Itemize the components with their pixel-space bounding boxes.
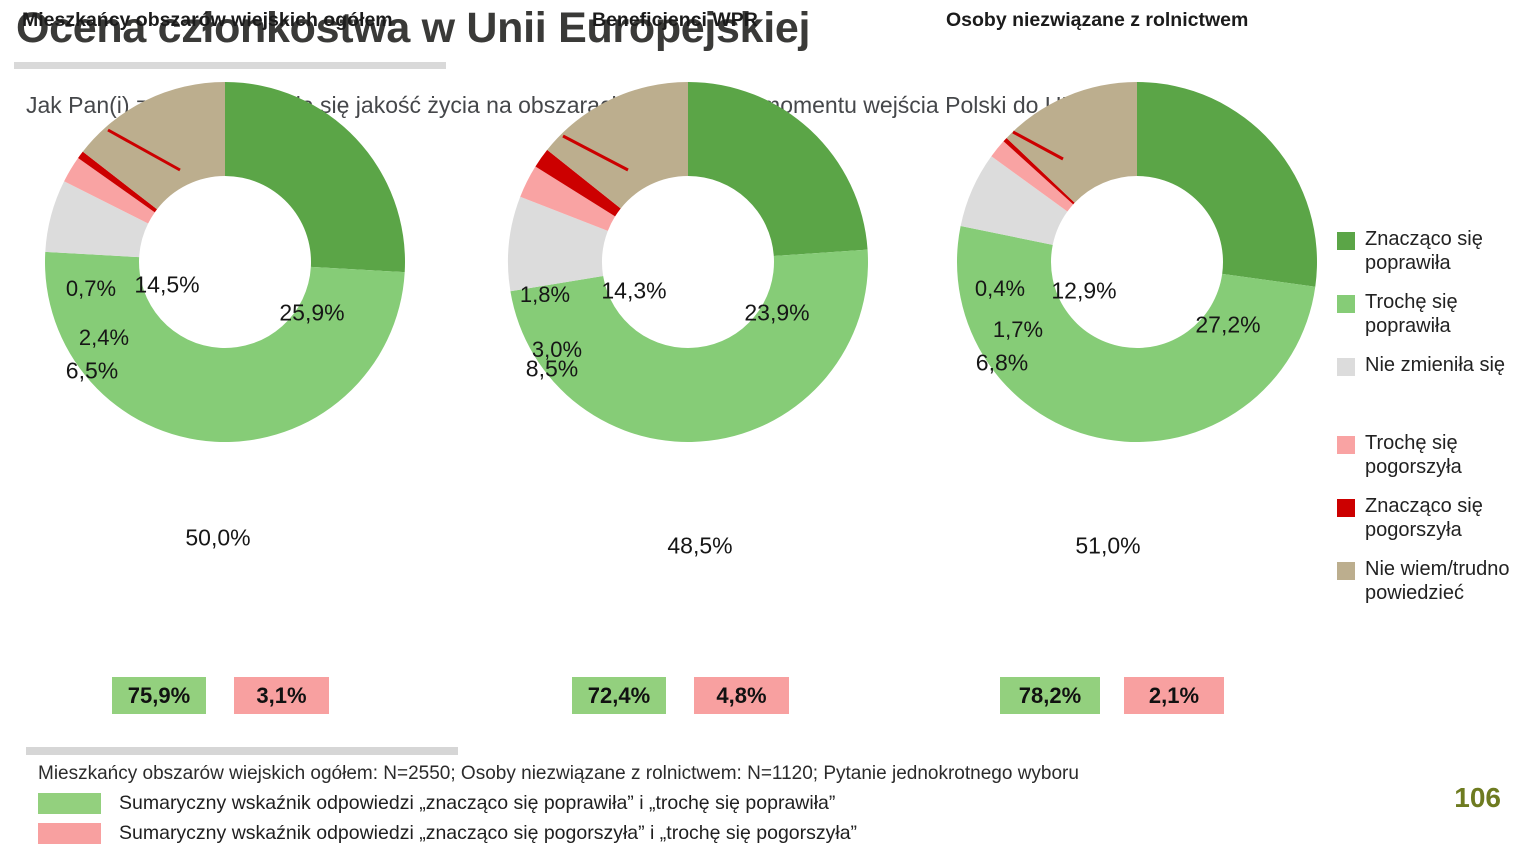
donut-value-label-5: 14,5%	[134, 272, 199, 299]
leader-line	[1013, 132, 1063, 159]
donut-slice-2	[45, 181, 148, 257]
donut-value-label-2: 6,5%	[66, 358, 118, 385]
legend-item-2: Nie zmieniła się	[1337, 354, 1537, 378]
donut-slice-3	[520, 167, 615, 231]
swatch-good-icon	[38, 793, 101, 814]
donut-value-label-4: 1,8%	[520, 282, 570, 308]
donut-value-label-1: 51,0%	[1075, 533, 1140, 560]
page-subtitle: Jak Pan(i) zdaniem zmieniła się jakość ż…	[26, 92, 1090, 119]
donut-value-label-0: 27,2%	[1195, 312, 1260, 339]
summary-chip-good-0: 75,9%	[112, 677, 206, 714]
legend-item-1: Trochę się poprawiła	[1337, 291, 1537, 338]
donut-value-label-0: 25,9%	[279, 300, 344, 327]
legend-swatch-icon	[1337, 295, 1355, 313]
footer-divider	[26, 747, 458, 755]
donut-chart-1	[0, 0, 1537, 520]
chart-title-1: Beneficjenci WPR	[592, 9, 758, 32]
legend-swatch-icon	[1337, 562, 1355, 580]
chart-title-0: Mieszkańcy obszarów wiejskich ogółem	[22, 9, 393, 32]
legend-item-label: Trochę się pogorszyła	[1365, 432, 1537, 479]
donut-slice-2	[508, 197, 608, 291]
donut-value-label-3: 1,7%	[993, 317, 1043, 343]
footer-legend-good: Sumaryczny wskaźnik odpowiedzi „znacząco…	[38, 792, 835, 815]
leader-line	[108, 130, 180, 170]
legend-item-3: Trochę się pogorszyła	[1337, 432, 1537, 479]
donut-chart-2	[0, 0, 1537, 520]
legend-item-5: Nie wiem/trudno powiedzieć	[1337, 558, 1537, 605]
summary-chip-bad-2: 2,1%	[1124, 677, 1224, 714]
donut-slice-3	[64, 158, 155, 223]
donut-value-label-4: 0,7%	[66, 276, 116, 302]
swatch-bad-icon	[38, 823, 101, 844]
donut-value-label-0: 23,9%	[744, 300, 809, 327]
donut-value-label-5: 12,9%	[1051, 278, 1116, 305]
legend-swatch-icon	[1337, 499, 1355, 517]
donut-value-label-5: 14,3%	[601, 278, 666, 305]
donut-value-label-3: 2,4%	[79, 325, 129, 351]
donut-slice-4	[535, 150, 620, 216]
chart-legend: Znacząco się poprawiłaTrochę się poprawi…	[1337, 228, 1537, 622]
donut-slice-2	[961, 156, 1068, 245]
legend-swatch-icon	[1337, 358, 1355, 376]
donut-value-label-1: 50,0%	[185, 525, 250, 552]
legend-swatch-icon	[1337, 436, 1355, 454]
footer-legend-bad: Sumaryczny wskaźnik odpowiedzi „znacząco…	[38, 822, 857, 845]
legend-swatch-icon	[1337, 232, 1355, 250]
footer-legend-bad-label: Sumaryczny wskaźnik odpowiedzi „znacząco…	[119, 822, 857, 845]
slide-root: Ocena członkostwa w Unii Europejskiej Ja…	[0, 0, 1537, 857]
legend-item-label: Nie wiem/trudno powiedzieć	[1365, 558, 1537, 605]
donut-slice-4	[1003, 138, 1074, 204]
footnote-sample-size: Mieszkańcy obszarów wiejskich ogółem: N=…	[38, 763, 1079, 785]
donut-value-label-2: 6,8%	[976, 350, 1028, 377]
summary-chip-bad-1: 4,8%	[694, 677, 789, 714]
donut-slice-3	[991, 141, 1073, 211]
legend-item-label: Znacząco się poprawiła	[1365, 228, 1537, 275]
donut-value-label-1: 48,5%	[667, 533, 732, 560]
legend-item-0: Znacząco się poprawiła	[1337, 228, 1537, 275]
leader-line	[563, 136, 628, 170]
page-number: 106	[1454, 782, 1501, 814]
donut-slice-4	[78, 152, 157, 213]
legend-item-label: Nie zmieniła się	[1365, 354, 1505, 378]
summary-chip-good-1: 72,4%	[572, 677, 666, 714]
summary-chip-good-2: 78,2%	[1000, 677, 1100, 714]
donut-slice-0	[1137, 82, 1317, 287]
donut-chart-0	[0, 0, 1537, 520]
footer-legend-good-label: Sumaryczny wskaźnik odpowiedzi „znacząco…	[119, 792, 835, 815]
summary-chip-bad-0: 3,1%	[234, 677, 329, 714]
chart-title-2: Osoby niezwiązane z rolnictwem	[946, 9, 1248, 32]
legend-item-label: Znacząco się pogorszyła	[1365, 495, 1537, 542]
legend-item-label: Trochę się poprawiła	[1365, 291, 1537, 338]
legend-item-4: Znacząco się pogorszyła	[1337, 495, 1537, 542]
donut-value-label-3: 3,0%	[532, 337, 582, 363]
title-divider	[14, 62, 446, 69]
donut-value-label-4: 0,4%	[975, 276, 1025, 302]
